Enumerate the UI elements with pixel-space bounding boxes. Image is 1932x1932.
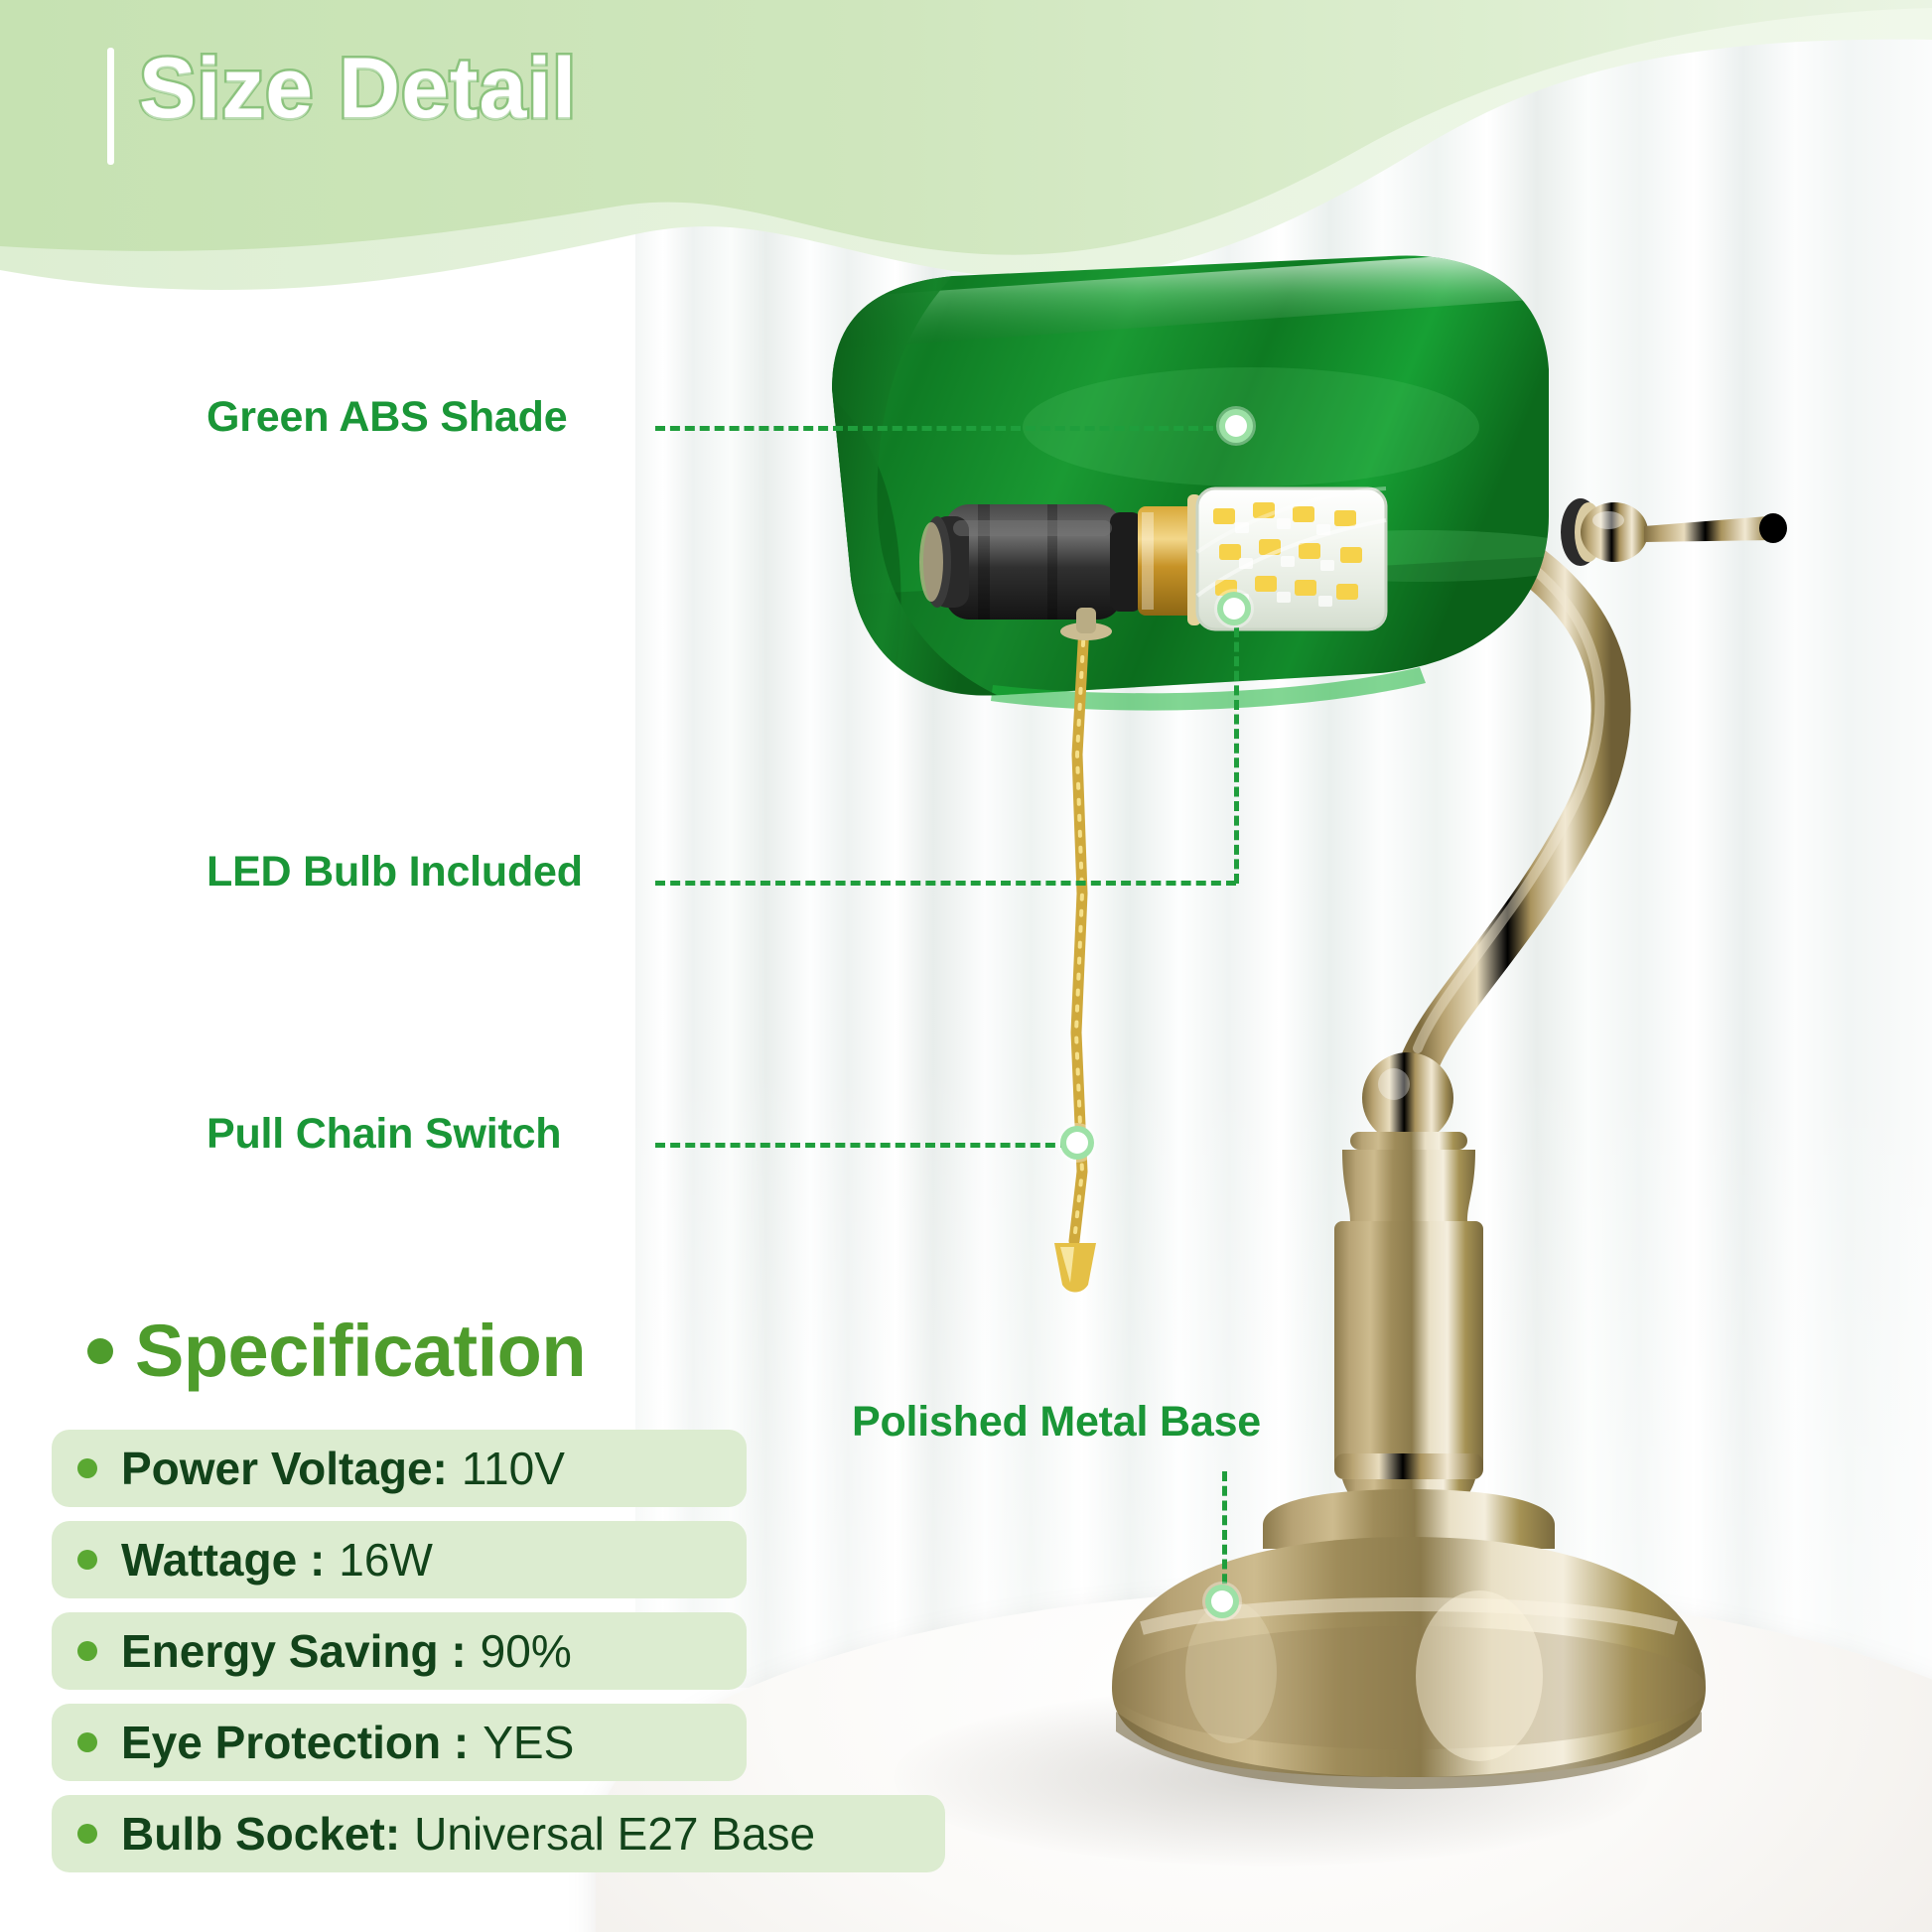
spec-row-eye-protection: Eye Protection : YES (52, 1704, 747, 1781)
spec-label: Wattage : (121, 1533, 325, 1587)
spec-label: Power Voltage: (121, 1442, 448, 1495)
callout-leader-polished-metal-base (1222, 1471, 1227, 1598)
bullet-icon (77, 1550, 97, 1570)
black-lamp-socket (919, 504, 1142, 620)
brass-domed-base (1112, 1489, 1706, 1789)
spec-value: YES (483, 1716, 574, 1769)
bullet-icon (87, 1338, 113, 1364)
spec-row-wattage: Wattage : 16W (52, 1521, 747, 1598)
callout-leader-led-bulb-v (1234, 627, 1239, 884)
brass-column (1334, 1052, 1483, 1519)
bullet-icon (77, 1824, 97, 1844)
led-bulb (1138, 488, 1386, 629)
spec-row-power-voltage: Power Voltage: 110V (52, 1430, 747, 1507)
green-abs-shade (830, 248, 1598, 715)
spec-value: 16W (339, 1533, 433, 1587)
callout-label-green-abs-shade: Green ABS Shade (207, 393, 567, 442)
specification-heading-label: Specification (135, 1309, 586, 1393)
bullet-icon (77, 1641, 97, 1661)
spec-value: 110V (462, 1442, 565, 1495)
callout-leader-led-bulb-h (655, 881, 1236, 886)
spec-label: Bulb Socket: (121, 1807, 400, 1861)
spec-row-bulb-socket: Bulb Socket: Universal E27 Base (52, 1795, 945, 1872)
spec-value: Universal E27 Base (414, 1807, 815, 1861)
callout-dot-pull-chain-switch (1060, 1126, 1094, 1160)
callout-dot-green-abs-shade (1219, 409, 1253, 443)
bullet-icon (77, 1732, 97, 1752)
callout-dot-led-bulb-included (1217, 592, 1251, 625)
callout-label-led-bulb-included: LED Bulb Included (207, 848, 583, 897)
gold-pull-chain (1054, 608, 1112, 1293)
spec-value: 90% (481, 1624, 572, 1678)
callout-leader-green-abs-shade (655, 426, 1213, 431)
callout-dot-polished-metal-base (1205, 1585, 1239, 1618)
bullet-icon (77, 1458, 97, 1478)
brass-finial-knob (1561, 498, 1787, 566)
spec-row-energy-saving: Energy Saving : 90% (52, 1612, 747, 1690)
infographic-canvas: Size Detail (0, 0, 1932, 1932)
specification-list: Power Voltage: 110V Wattage : 16W Energy… (52, 1430, 1044, 1886)
callout-leader-pull-chain-switch (655, 1143, 1070, 1148)
spec-label: Energy Saving : (121, 1624, 467, 1678)
callout-label-pull-chain-switch: Pull Chain Switch (207, 1110, 561, 1159)
spec-label: Eye Protection : (121, 1716, 469, 1769)
specification-heading: Specification (87, 1309, 586, 1393)
